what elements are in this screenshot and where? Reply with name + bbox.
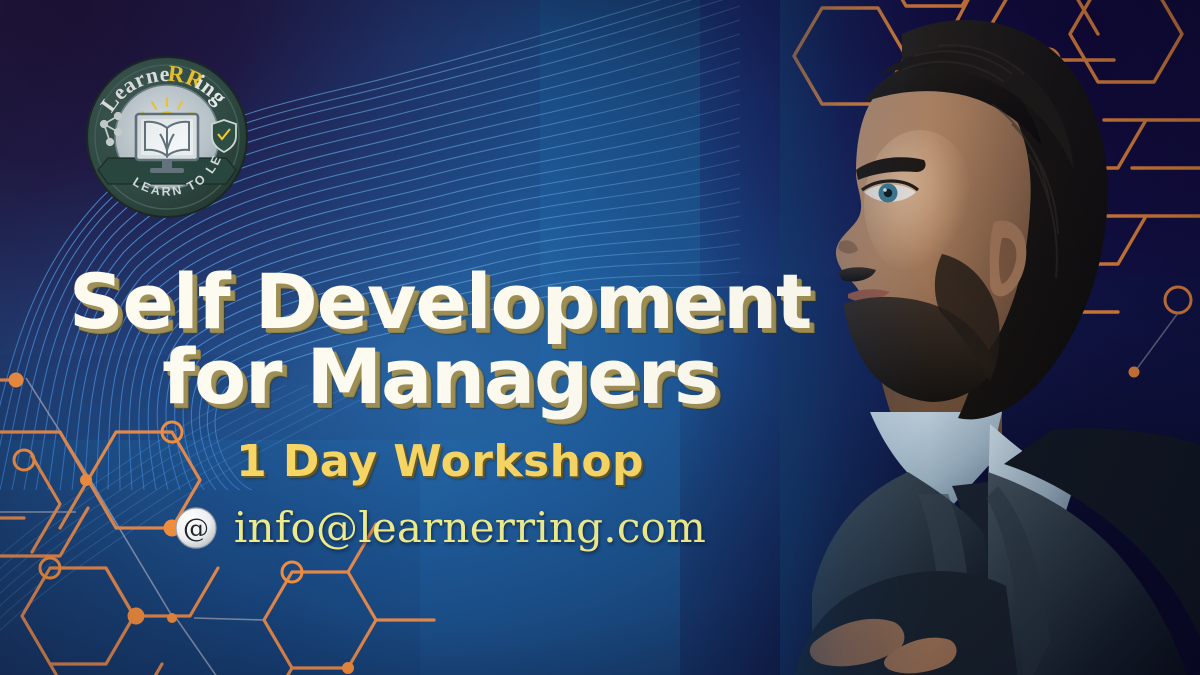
vignette-overlay	[0, 0, 1200, 675]
event-poster: Learne RR ing LEARN TO LEAD	[0, 0, 1200, 675]
